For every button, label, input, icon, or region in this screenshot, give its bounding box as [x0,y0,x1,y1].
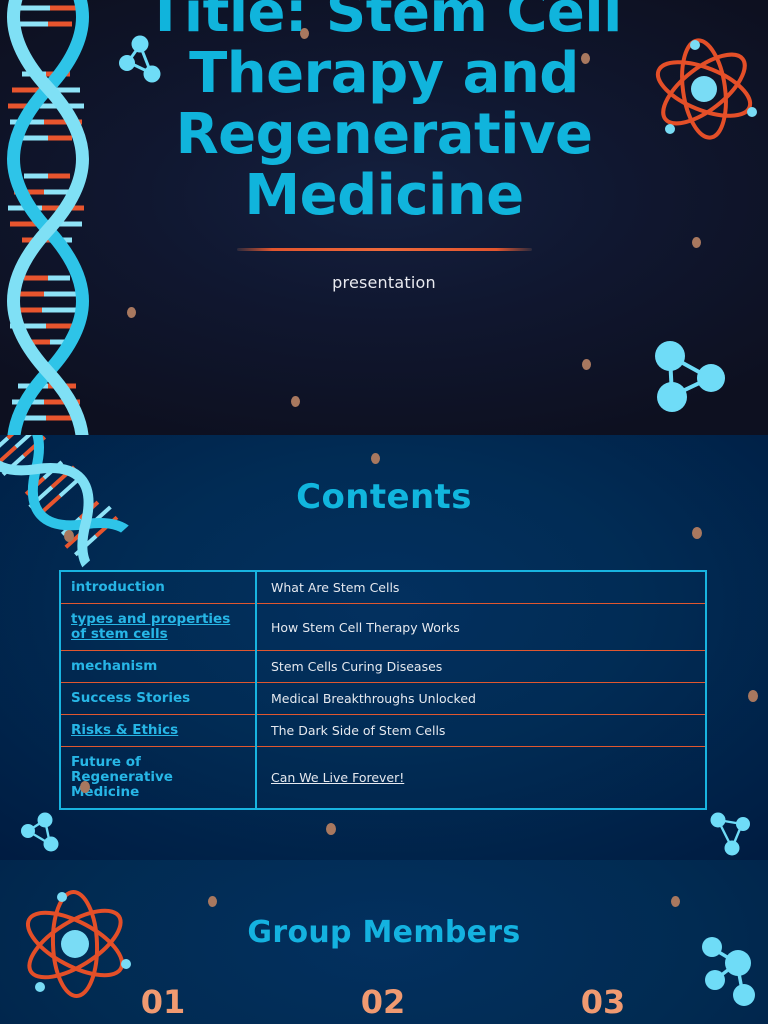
slide-contents: Contents introduction What Are Stem Cell… [0,435,768,860]
table-cell-topic[interactable]: How Stem Cell Therapy Works [256,604,706,651]
table-cell-section[interactable]: types and properties of stem cells [60,604,256,651]
dot-icon [582,359,591,370]
molecule-icon [118,30,182,92]
dot-icon [326,823,336,835]
table-cell-topic[interactable]: Can We Live Forever! [256,747,706,810]
atom-icon [648,36,760,142]
molecule-icon [648,334,732,418]
table-cell-section[interactable]: mechanism [60,651,256,683]
title-divider [237,248,532,251]
molecule-icon [18,810,70,858]
dot-icon [671,896,680,907]
page-title: Title: Stem Cell Therapy and Regenerativ… [96,0,672,226]
table-row[interactable]: Future of Regenerative Medicine Can We L… [60,747,706,810]
table-cell-topic[interactable]: Medical Breakthroughs Unlocked [256,683,706,715]
dot-icon [748,690,758,702]
table-row[interactable]: introduction What Are Stem Cells [60,571,706,604]
subtitle: presentation [96,273,672,292]
table-cell-section[interactable]: Risks & Ethics [60,715,256,747]
dot-icon [371,453,380,464]
slide-group-members: Group Members 01 02 03 [0,860,768,1024]
dot-icon [581,53,590,64]
title-block: Title: Stem Cell Therapy and Regenerativ… [96,0,672,292]
dot-icon [692,527,702,539]
table-cell-topic[interactable]: The Dark Side of Stem Cells [256,715,706,747]
table-cell-section[interactable]: Success Stories [60,683,256,715]
molecule-icon [706,810,758,858]
dna-helix-icon [0,0,98,435]
contents-table: introduction What Are Stem Cells types a… [59,570,707,810]
presentation-deck: Title: Stem Cell Therapy and Regenerativ… [0,0,768,1024]
table-row[interactable]: Success Stories Medical Breakthroughs Un… [60,683,706,715]
table-cell-section[interactable]: introduction [60,571,256,604]
dot-icon [127,307,136,318]
molecule-icon [696,932,768,1010]
table-cell-topic[interactable]: Stem Cells Curing Diseases [256,651,706,683]
dot-icon [300,28,309,39]
atom-icon [16,888,134,1000]
slide-title: Title: Stem Cell Therapy and Regenerativ… [0,0,768,435]
table-cell-topic[interactable]: What Are Stem Cells [256,571,706,604]
member-number-02: 02 [338,983,428,1021]
table-row[interactable]: Risks & Ethics The Dark Side of Stem Cel… [60,715,706,747]
member-number-03: 03 [558,983,648,1021]
dot-icon [208,896,217,907]
table-cell-section[interactable]: Future of Regenerative Medicine [60,747,256,810]
table-row[interactable]: types and properties of stem cells How S… [60,604,706,651]
table-row[interactable]: mechanism Stem Cells Curing Diseases [60,651,706,683]
dot-icon [692,237,701,248]
dot-icon [291,396,300,407]
dot-icon [64,530,74,542]
dot-icon [80,781,90,793]
